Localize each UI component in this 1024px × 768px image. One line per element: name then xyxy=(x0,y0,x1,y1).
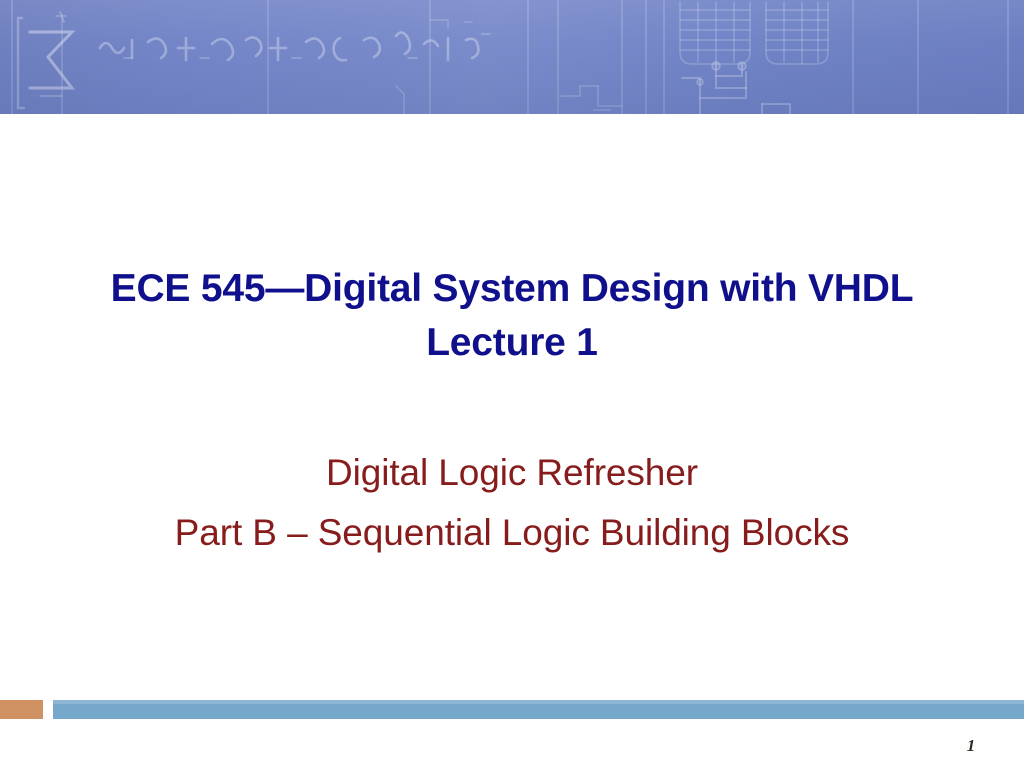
header-watermark-artwork xyxy=(0,0,1024,114)
page-subtitle: Digital Logic Refresher Part B – Sequent… xyxy=(62,443,962,563)
subtitle-line-1: Digital Logic Refresher xyxy=(62,443,962,503)
title-line-1: ECE 545—Digital System Design with VHDL xyxy=(62,262,962,316)
footer-accent-block xyxy=(0,700,43,719)
slide-canvas: ECE 545—Digital System Design with VHDL … xyxy=(0,0,1024,768)
footer-bar xyxy=(53,700,1024,719)
page-title: ECE 545—Digital System Design with VHDL … xyxy=(62,262,962,370)
footer-bar-highlight xyxy=(53,700,1024,704)
title-line-2: Lecture 1 xyxy=(62,316,962,370)
header-banner xyxy=(0,0,1024,114)
subtitle-line-2: Part B – Sequential Logic Building Block… xyxy=(62,503,962,563)
slide-number: 1 xyxy=(948,736,994,756)
